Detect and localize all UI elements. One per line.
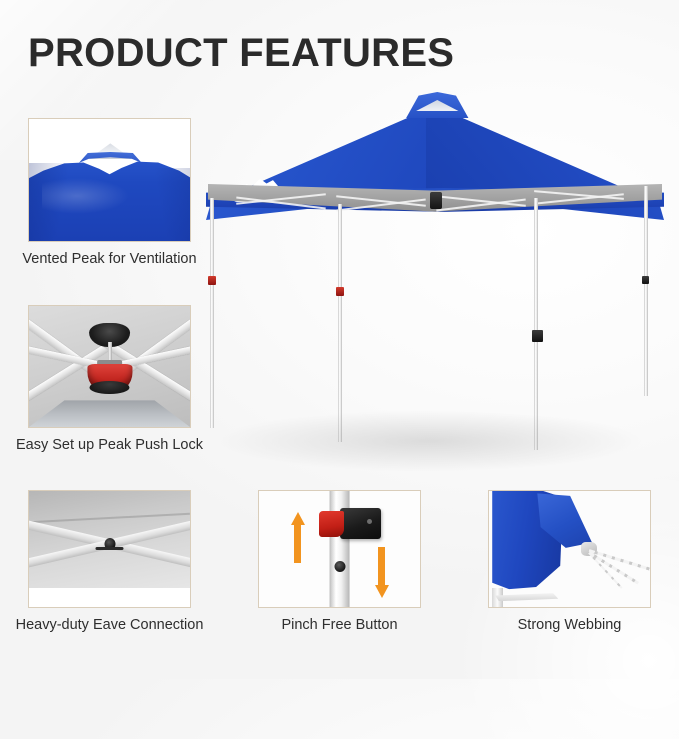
leg-height-button-front-center: [336, 287, 344, 296]
eave-connection-photo: [29, 491, 190, 607]
fabric-highlight: [42, 178, 129, 215]
leg-height-button-front-right: [532, 330, 543, 342]
fabric-shading-right: [148, 168, 191, 241]
feature-caption: Vented Peak for Ventilation: [14, 250, 205, 269]
feature-photo-frame: [488, 490, 651, 608]
pole-adjustment-hole: [334, 561, 345, 572]
feature-photo-frame: [28, 490, 191, 608]
ground-shadow: [214, 410, 644, 472]
ground-area: [29, 400, 190, 427]
eave-bolt-connector: [104, 538, 115, 550]
feature-photo-frame: [28, 118, 191, 242]
pinch-free-button-photo: [259, 491, 420, 607]
leg-height-button-front-left: [208, 276, 216, 285]
red-push-button: [319, 511, 345, 538]
feature-caption: Strong Webbing: [474, 616, 665, 635]
button-housing: [340, 508, 382, 538]
strong-webbing-photo: [489, 491, 650, 607]
feature-caption: Pinch Free Button: [244, 616, 435, 635]
red-push-lock-knob: [87, 364, 132, 393]
feature-caption: Heavy-duty Eave Connection: [14, 616, 205, 635]
canopy-leg-back-right: [644, 186, 648, 396]
peak-push-lock-photo: [29, 306, 190, 427]
product-features-page: PRODUCT FEATURES EAGLE PEAK: [0, 0, 679, 679]
feature-photo-frame: [258, 490, 421, 608]
canopy-hem: [494, 593, 558, 601]
center-peak-hub: [430, 192, 442, 209]
canopy-leg-front-center: [338, 204, 342, 442]
arrow-up-icon: [291, 512, 304, 563]
feature-photo-frame: [28, 305, 191, 428]
vented-peak-photo: [29, 119, 190, 241]
arrow-down-icon: [375, 547, 388, 598]
page-title: PRODUCT FEATURES: [28, 33, 454, 73]
canopy-leg-front-left: [210, 198, 214, 428]
canopy-leg-front-right: [534, 198, 538, 450]
leg-height-button-back-right: [642, 276, 649, 284]
feature-caption: Easy Set up Peak Push Lock: [14, 436, 205, 455]
housing-screw: [367, 519, 372, 524]
hero-canopy-image: EAGLE PEAK: [196, 80, 674, 470]
